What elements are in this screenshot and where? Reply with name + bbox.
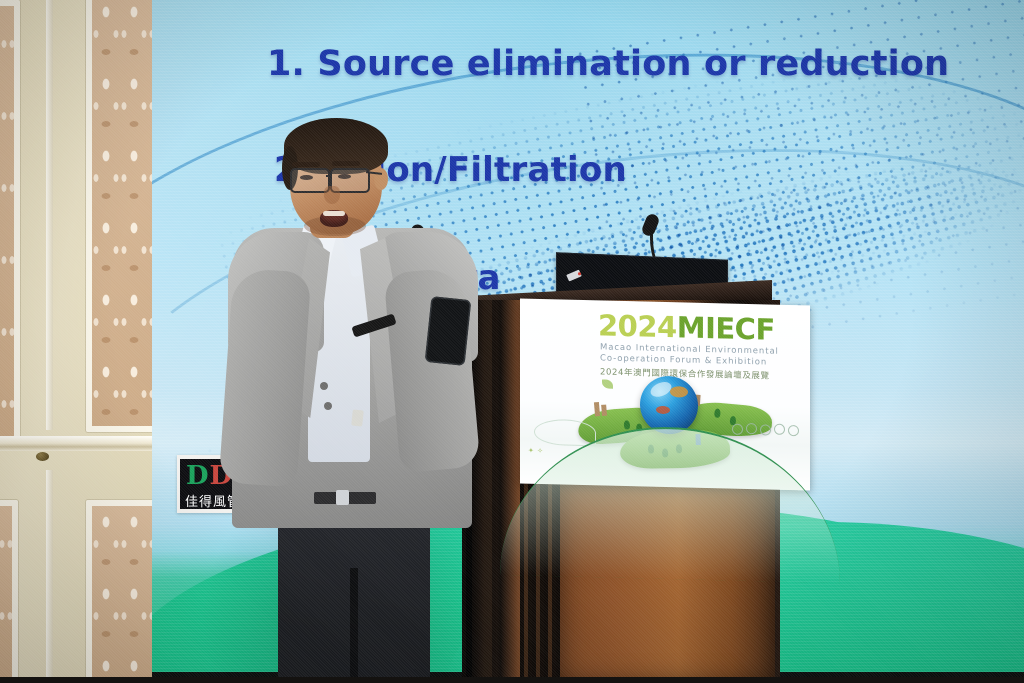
miecf-acronym: MIECF (677, 310, 775, 346)
hotel-wall (0, 0, 160, 683)
speaker-nose (324, 186, 340, 204)
speaker-eyebrow-left (292, 162, 320, 167)
eco-icon-4 (774, 424, 785, 435)
tree-icon-1 (624, 420, 631, 429)
wallpaper-damask-2 (92, 0, 154, 426)
building-icon-2 (601, 405, 607, 416)
eco-icon-3 (760, 424, 771, 435)
name-badge (351, 409, 364, 426)
wallpaper-panel-frame-2 (86, 0, 160, 432)
leaf-icon (602, 379, 613, 388)
jacket-button-1 (320, 382, 328, 390)
globe-landmass-1 (670, 386, 688, 397)
wallpaper-panel-frame-3 (86, 500, 160, 683)
door-knob[interactable] (36, 452, 49, 461)
globe-landmass-2 (656, 406, 670, 414)
eyeglasses-bridge (326, 175, 332, 177)
speaker-teeth (323, 211, 345, 216)
jacket-button-2 (324, 402, 332, 410)
belt-buckle (336, 490, 349, 505)
building-icon-1 (594, 402, 600, 416)
wallpaper-panel-frame-4 (0, 500, 18, 683)
sign-green-arc (500, 423, 840, 583)
eco-icon-1 (732, 424, 743, 435)
wallpaper-damask-1 (0, 6, 14, 436)
miecf-year: 2024 (598, 308, 677, 344)
wall-moulding-vertical-lower (46, 470, 53, 683)
wallpaper-damask-4 (0, 506, 12, 683)
speaker-mouth (320, 210, 348, 227)
miecf-sign-title: 2024MIECF (598, 308, 775, 346)
eco-icon-5 (788, 425, 799, 436)
eco-icon-2 (746, 423, 757, 434)
wallpaper-damask-3 (92, 506, 154, 683)
wallpaper-panel-frame-1 (0, 0, 20, 442)
sign-footnote-mark: ✦ ✧ (528, 447, 543, 455)
thinkpad-logo-dot-icon (578, 272, 581, 275)
slide-bullet-1: 1. Source elimination or reduction (267, 44, 949, 84)
tree-icon-3 (714, 408, 721, 418)
chair-rail-moulding (0, 436, 170, 451)
speaker-eyebrow-right (332, 161, 360, 166)
speaker-arm-left (219, 268, 312, 488)
miecf-event-sign: 2024MIECF Macao International Environmen… (520, 298, 810, 490)
photo-canvas: 1. Source elimination or reduction 2. la… (0, 0, 1024, 683)
wall-moulding-vertical (46, 0, 53, 430)
foreground-floor-edge (0, 677, 1024, 683)
decorative-swirl (534, 419, 596, 447)
globe-icon (640, 375, 698, 434)
speaker-figure (232, 120, 472, 683)
smartphone[interactable] (425, 296, 472, 366)
trouser-leg-separation (350, 568, 358, 683)
miecf-chinese-subtitle: 2024年澳門國際環保合作發展論壇及展覽 (600, 365, 770, 381)
speaker-hand-right (229, 163, 288, 222)
